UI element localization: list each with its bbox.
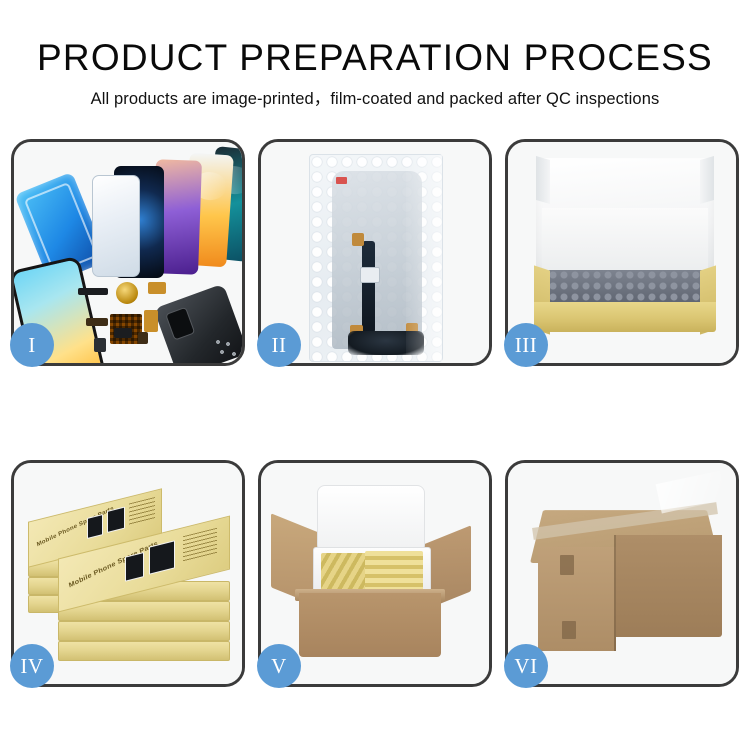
step-badge-4: IV [10,644,54,688]
gold-contact-a-icon [352,233,364,246]
box-lid-left-flap-icon [536,156,550,204]
retail-box-stack-icon: Mobile Phone Spare Parts Mobile Phone Sp… [24,481,238,675]
carton-handle-notch-top-icon [560,555,574,575]
page-title: PRODUCT PREPARATION PROCESS [0,0,750,80]
step-badge-2: II [257,323,301,367]
step-card-6: VI [505,460,739,687]
plastic-gloss-overlay [406,155,442,361]
carton-handle-notch-bottom-icon [562,621,576,639]
step-card-4: Mobile Phone Spare Parts Mobile Phone Sp… [11,460,245,687]
screws-icon [214,338,240,360]
step-card-2: II [258,139,492,366]
page-header: PRODUCT PREPARATION PROCESS All products… [0,0,750,109]
box-art-screen-b2 [107,507,125,533]
carton-left-panel-icon [538,547,616,651]
vibrator-part-icon [138,332,148,344]
buzzer-part-icon [114,328,132,338]
carton-corner-seam-icon [614,535,616,651]
step-card-1: I [11,139,245,366]
flex-cable-2-icon [144,310,158,332]
foam-box-lid-icon [317,485,425,553]
step-badge-1: I [10,323,54,367]
step-badge-6: VI [504,644,548,688]
stacked-box-f4 [58,641,230,661]
box-front-panel-icon [534,302,716,332]
carton-front-panel-icon [299,593,441,657]
flex-cable-icon [148,282,166,294]
speaker-part-icon [78,288,108,295]
step-card-5: V [258,460,492,687]
small-chip-icon [86,318,108,326]
tempered-glass-icon [92,175,140,277]
step-badge-5: V [257,644,301,688]
box-art-screen-f2 [149,540,175,574]
box-art-screen-b1 [87,514,103,539]
box-lid-right-flap-icon [700,156,714,204]
box-spec-lines-back [129,497,155,525]
connector-icon [360,267,380,283]
page-subtitle: All products are image-printed，film-coat… [0,80,750,109]
display-flex-cable-icon [362,241,375,333]
box-spec-lines-front [183,528,217,562]
coil-part-icon [116,282,138,304]
camera-part-icon [94,338,106,352]
step-badge-3: III [504,323,548,367]
step-card-3: III [505,139,739,366]
bubble-wrap-bag-icon [309,154,443,362]
process-steps-grid: I II [11,139,739,687]
foam-sheet-icon [542,208,708,270]
box-art-screen-f1 [125,552,144,582]
product-preparation-page: PRODUCT PREPARATION PROCESS All products… [0,0,750,750]
stacked-box-f3 [58,621,230,641]
packed-boxes-group-1 [321,553,367,593]
carton-right-panel-icon [616,535,722,637]
red-label-icon [336,177,347,184]
bubble-padding-icon [548,270,704,304]
